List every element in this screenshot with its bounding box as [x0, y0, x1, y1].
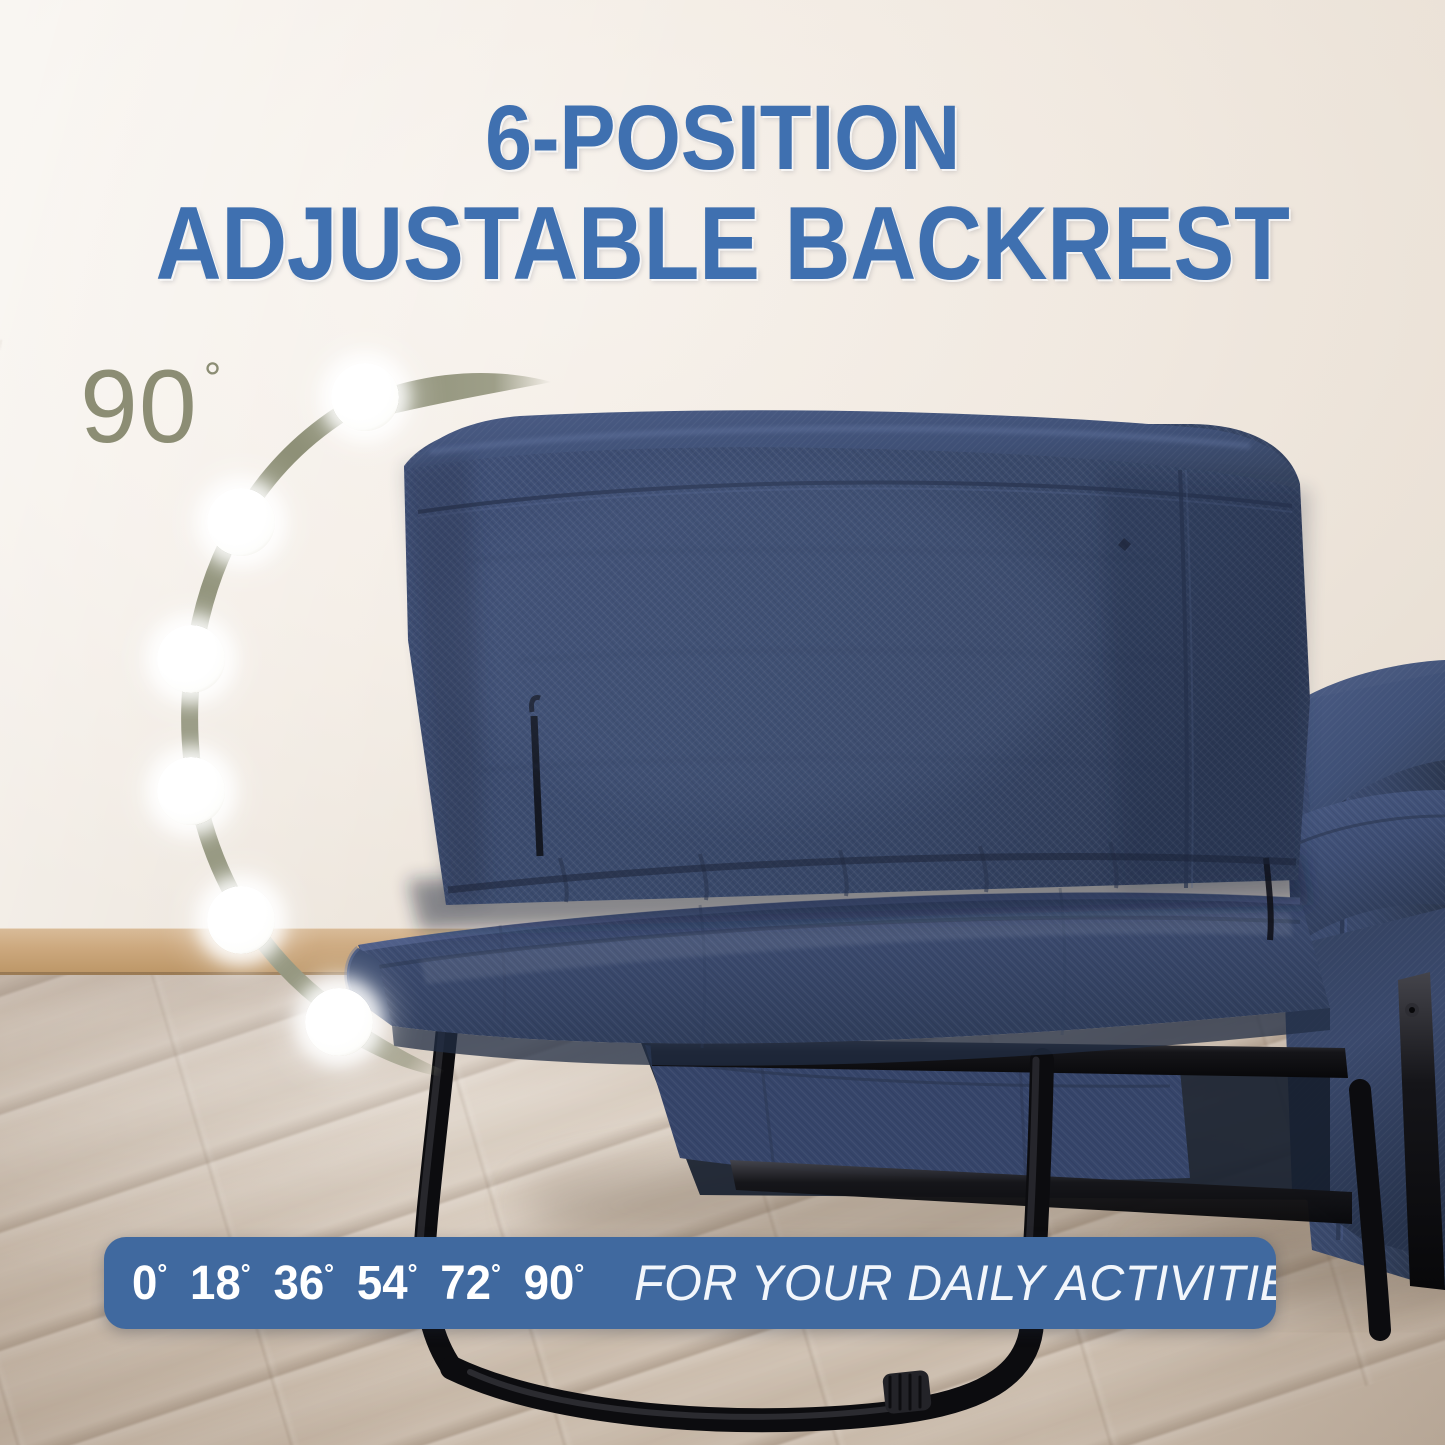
position-dot-4: [157, 757, 225, 825]
banner-angle-36: 36°: [273, 1256, 334, 1311]
banner-angle-value: 18: [190, 1257, 241, 1310]
banner-angle-72: 72°: [440, 1256, 501, 1311]
banner-angle-list: 0°18°36°54°72°90°: [132, 1256, 607, 1311]
degree-symbol-icon: °: [574, 1258, 584, 1288]
banner-tagline: FOR YOUR DAILY ACTIVITIES: [634, 1254, 1276, 1312]
position-dot-3: [157, 625, 225, 693]
banner-angle-value: 72: [440, 1257, 491, 1310]
headline-line-1: 6-POSITION: [58, 92, 1387, 184]
position-dot-5: [207, 886, 275, 954]
degree-symbol-icon: °: [491, 1258, 501, 1288]
banner-angle-54: 54°: [357, 1256, 418, 1311]
banner-angle-value: 90: [524, 1257, 575, 1310]
max-angle-label: 90 °: [80, 355, 222, 459]
banner-angle-18: 18°: [190, 1256, 251, 1311]
banner-angle-value: 0: [132, 1257, 157, 1310]
angles-banner: 0°18°36°54°72°90° FOR YOUR DAILY ACTIVIT…: [104, 1237, 1276, 1329]
degree-symbol-icon: °: [157, 1258, 167, 1288]
degree-symbol-icon: °: [324, 1258, 334, 1288]
position-dot-2: [207, 488, 275, 556]
banner-angle-90: 90°: [524, 1256, 585, 1311]
banner-angle-0: 0°: [132, 1256, 167, 1311]
position-dot-6: [305, 988, 373, 1056]
product-feature-image: 6-POSITION ADJUSTABLE BACKREST 90 ° 0°18…: [0, 0, 1445, 1445]
degree-symbol-icon: °: [204, 357, 223, 401]
max-angle-value: 90: [80, 355, 198, 459]
headline-line-2: ADJUSTABLE BACKREST: [87, 192, 1359, 296]
degree-symbol-icon: °: [241, 1258, 251, 1288]
degree-symbol-icon: °: [408, 1258, 418, 1288]
banner-angle-value: 36: [273, 1257, 324, 1310]
banner-angle-value: 54: [357, 1257, 408, 1310]
position-dot-1: [331, 363, 399, 431]
